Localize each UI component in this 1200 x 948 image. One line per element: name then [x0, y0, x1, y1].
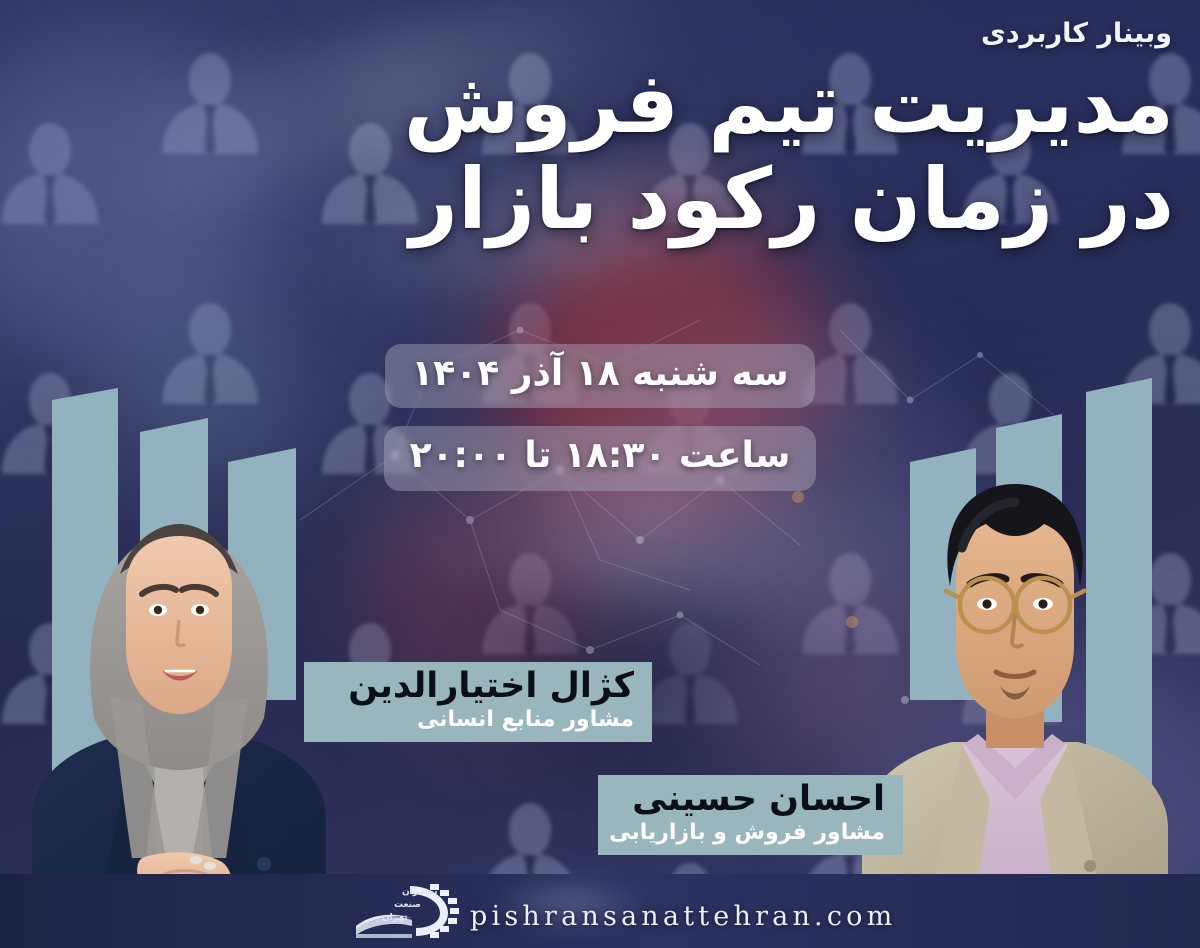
- speaker-two-role: مشاور فروش و بازاریابی: [616, 819, 885, 847]
- webinar-poster: وبینار کاربردی مدیریت تیم فروش در زمان ر…: [0, 0, 1200, 948]
- speaker-one-caption: کژال اختیارالدین مشاور منابع انسانی: [304, 662, 652, 742]
- logo-word-3: تهران: [382, 913, 408, 923]
- poster-headline: مدیریت تیم فروش در زمان رکود بازار: [34, 62, 1174, 241]
- poster-footer: پیشـران صنعت تهران pishransanattehran.co…: [0, 874, 1200, 948]
- schedule-badges: سه شنبه ۱۸ آذر ۱۴۰۴ ساعت ۱۸:۳۰ تا ۲۰:۰۰: [0, 344, 1200, 491]
- time-badge: ساعت ۱۸:۳۰ تا ۲۰:۰۰: [384, 426, 817, 490]
- date-badge: سه شنبه ۱۸ آذر ۱۴۰۴: [385, 344, 814, 408]
- logo-word-1: پیشـران: [402, 887, 438, 897]
- poster-kicker: وبینار کاربردی: [981, 18, 1172, 49]
- website-url: pishransanattehran.com: [470, 901, 896, 932]
- pishran-sanat-tehran-logo: پیشـران صنعت تهران: [336, 880, 460, 942]
- speaker-one-role: مشاور منابع انسانی: [322, 706, 634, 734]
- speaker-two-photo: [840, 428, 1190, 948]
- speaker-two-caption: احسان حسینی مشاور فروش و بازاریابی: [598, 775, 903, 855]
- logo-word-2: صنعت: [394, 900, 421, 910]
- headline-line-2: در زمان رکود بازار: [34, 158, 1174, 240]
- headline-line-1: مدیریت تیم فروش: [34, 62, 1174, 144]
- speaker-one-name: کژال اختیارالدین: [322, 668, 634, 706]
- speaker-two-name: احسان حسینی: [616, 781, 885, 819]
